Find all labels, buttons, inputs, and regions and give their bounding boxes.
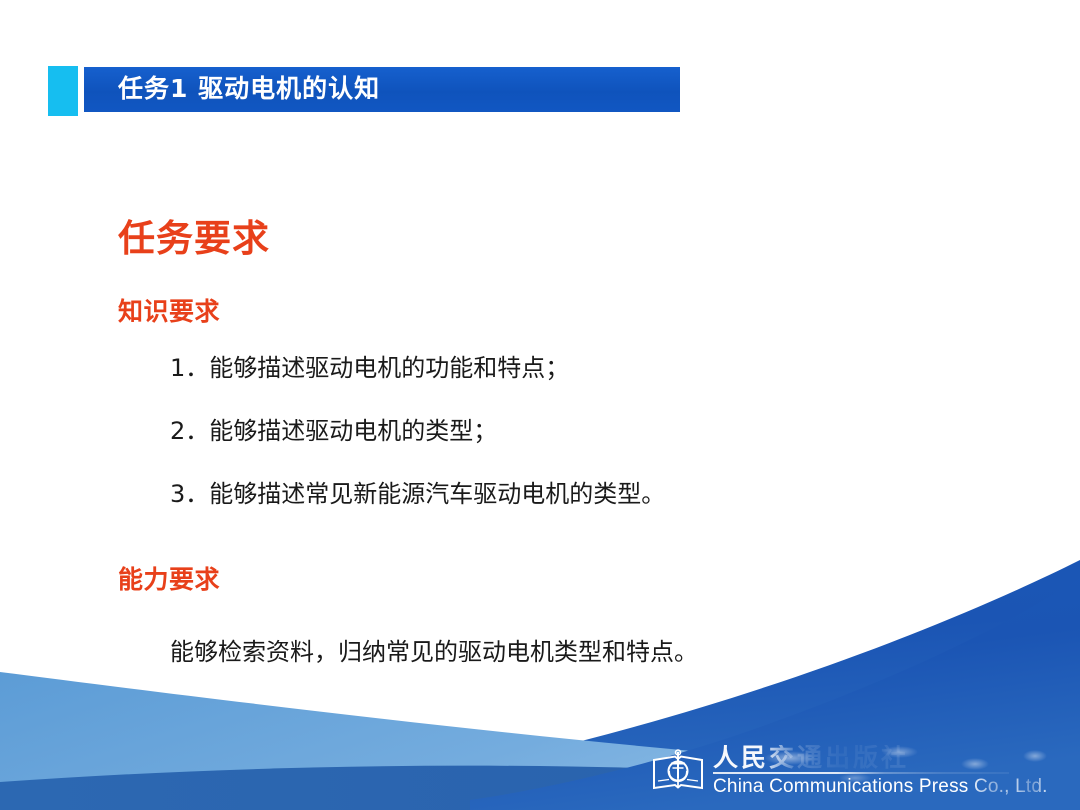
ability-requirements-text: 能够检索资料，归纳常见的驱动电机类型和特点。	[170, 632, 698, 667]
publisher-name-cn: 人民交通出版社	[713, 745, 1048, 771]
slide-canvas: 任务1 驱动电机的认知 任务要求 知识要求 1．能够描述驱动电机的功能和特点； …	[0, 0, 1080, 810]
list-item: 1．能够描述驱动电机的功能和特点；	[170, 356, 990, 380]
list-item: 3．能够描述常见新能源汽车驱动电机的类型。	[170, 482, 990, 506]
section-heading-task-requirements: 任务要求	[118, 208, 270, 262]
publisher-name-en: China Communications Press Co., Ltd.	[713, 776, 1048, 797]
publisher-logo-text: 人民交通出版社 China Communications Press Co., …	[713, 745, 1048, 795]
subheading-ability-requirements: 能力要求	[118, 560, 220, 596]
knowledge-requirements-list: 1．能够描述驱动电机的功能和特点； 2．能够描述驱动电机的类型； 3．能够描述常…	[170, 356, 990, 506]
logo-divider	[713, 772, 1009, 774]
subheading-knowledge-requirements: 知识要求	[118, 292, 220, 328]
book-anchor-emblem-icon	[652, 748, 704, 792]
slide-content: 任务要求 知识要求 1．能够描述驱动电机的功能和特点； 2．能够描述驱动电机的类…	[0, 0, 1080, 810]
list-item: 2．能够描述驱动电机的类型；	[170, 419, 990, 443]
publisher-logo: 人民交通出版社 China Communications Press Co., …	[652, 742, 1048, 798]
